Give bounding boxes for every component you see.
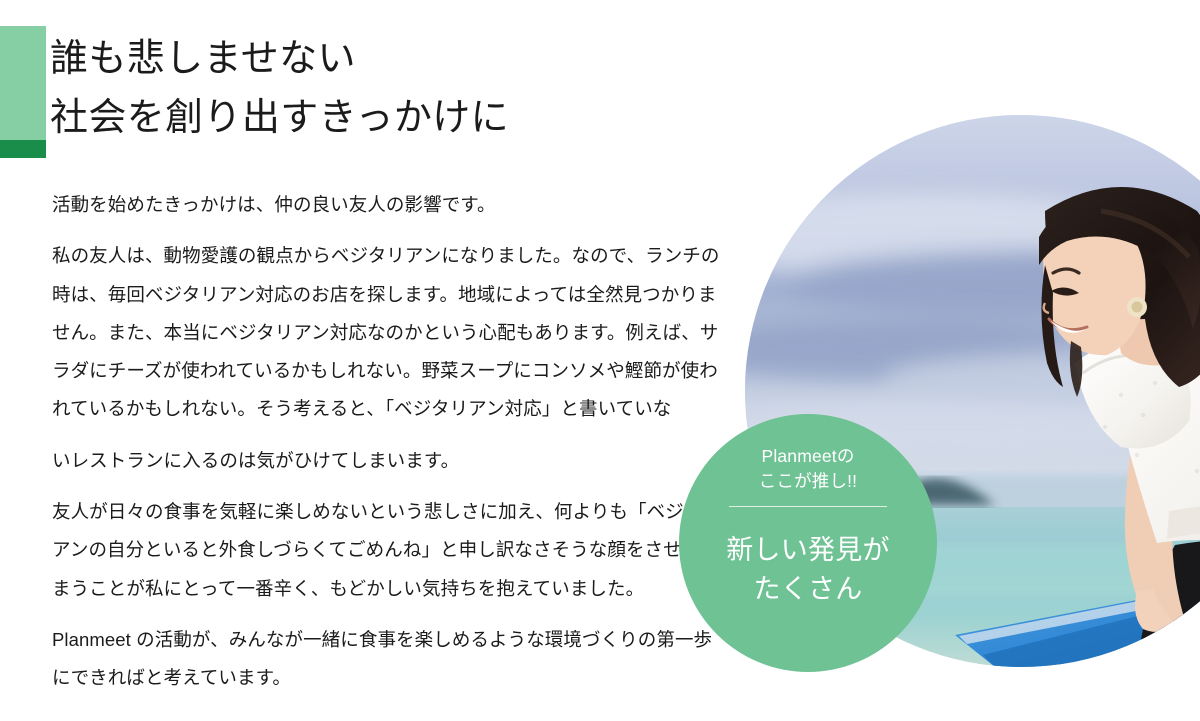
body-paragraph: 友人が日々の食事を気軽に楽しめないという悲しさに加え、何よりも「ベジタリアンの自… — [52, 493, 724, 608]
page-title-line-1: 誰も悲しませない — [50, 30, 750, 89]
highlight-badge-headline-line-2: たくさん — [726, 570, 890, 609]
body-paragraph: Planmeet の活動が、みんなが一緒に食事を楽しめるような環境づくりの第一歩… — [52, 621, 724, 698]
heading-accent-bar-foot — [0, 140, 46, 158]
highlight-badge-kicker-line-2: ここが推し!! — [759, 469, 857, 494]
article-page: 誰も悲しませない 社会を創り出すきっかけに 活動を始めたきっかけは、仲の良い友人… — [0, 0, 1200, 721]
highlight-badge: Planmeetの ここが推し!! 新しい発見が たくさん — [679, 414, 937, 672]
body-paragraph: 私の友人は、動物愛護の観点からベジタリアンになりました。なので、ランチの時は、毎… — [52, 237, 724, 428]
page-title-line-2: 社会を創り出すきっかけに — [50, 89, 750, 148]
highlight-badge-divider — [729, 506, 887, 507]
highlight-badge-kicker: Planmeetの ここが推し!! — [759, 444, 857, 495]
highlight-badge-kicker-line-1: Planmeetの — [759, 444, 857, 469]
heading-accent-bar — [0, 26, 46, 158]
body-paragraph: いレストランに入るのは気がひけてしまいます。 — [52, 442, 724, 480]
article-body: 活動を始めたきっかけは、仲の良い友人の影響です。 私の友人は、動物愛護の観点から… — [52, 186, 724, 697]
page-title: 誰も悲しませない 社会を創り出すきっかけに — [50, 30, 750, 148]
body-paragraph: 活動を始めたきっかけは、仲の良い友人の影響です。 — [52, 186, 724, 224]
highlight-badge-headline: 新しい発見が たくさん — [726, 531, 890, 609]
highlight-badge-headline-line-1: 新しい発見が — [726, 531, 890, 570]
